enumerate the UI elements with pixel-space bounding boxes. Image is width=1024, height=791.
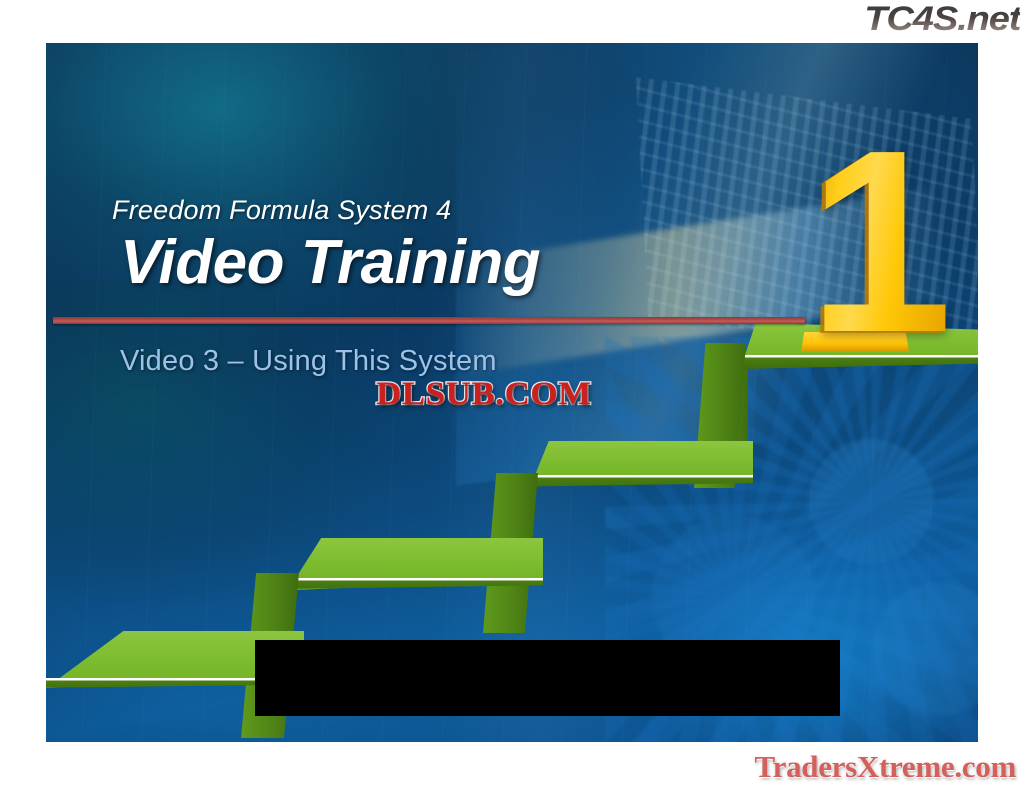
tradersxtreme-site-logo: TradersXtreme.com — [755, 749, 1016, 785]
slide-subtitle: Video 3 – Using This System — [120, 345, 497, 378]
staircase-step-2 — [288, 538, 543, 596]
staircase-step-3-edge — [531, 475, 753, 489]
staircase-step-3 — [531, 441, 753, 491]
staircase-step-2-edge — [288, 578, 543, 592]
redaction-bar — [255, 640, 840, 716]
dlsub-watermark: DLSUB.COM — [376, 376, 592, 413]
presentation-slide: 1 Freedom Formula System 4 Video Trainin… — [46, 43, 978, 742]
slide-kicker: Freedom Formula System 4 — [112, 195, 451, 226]
slide-headline: Video Training — [120, 227, 540, 298]
tc4s-site-logo: TC4S.net — [864, 2, 1020, 36]
slide-divider-rule — [53, 317, 805, 324]
gold-numeral-one: 1 — [808, 141, 947, 344]
